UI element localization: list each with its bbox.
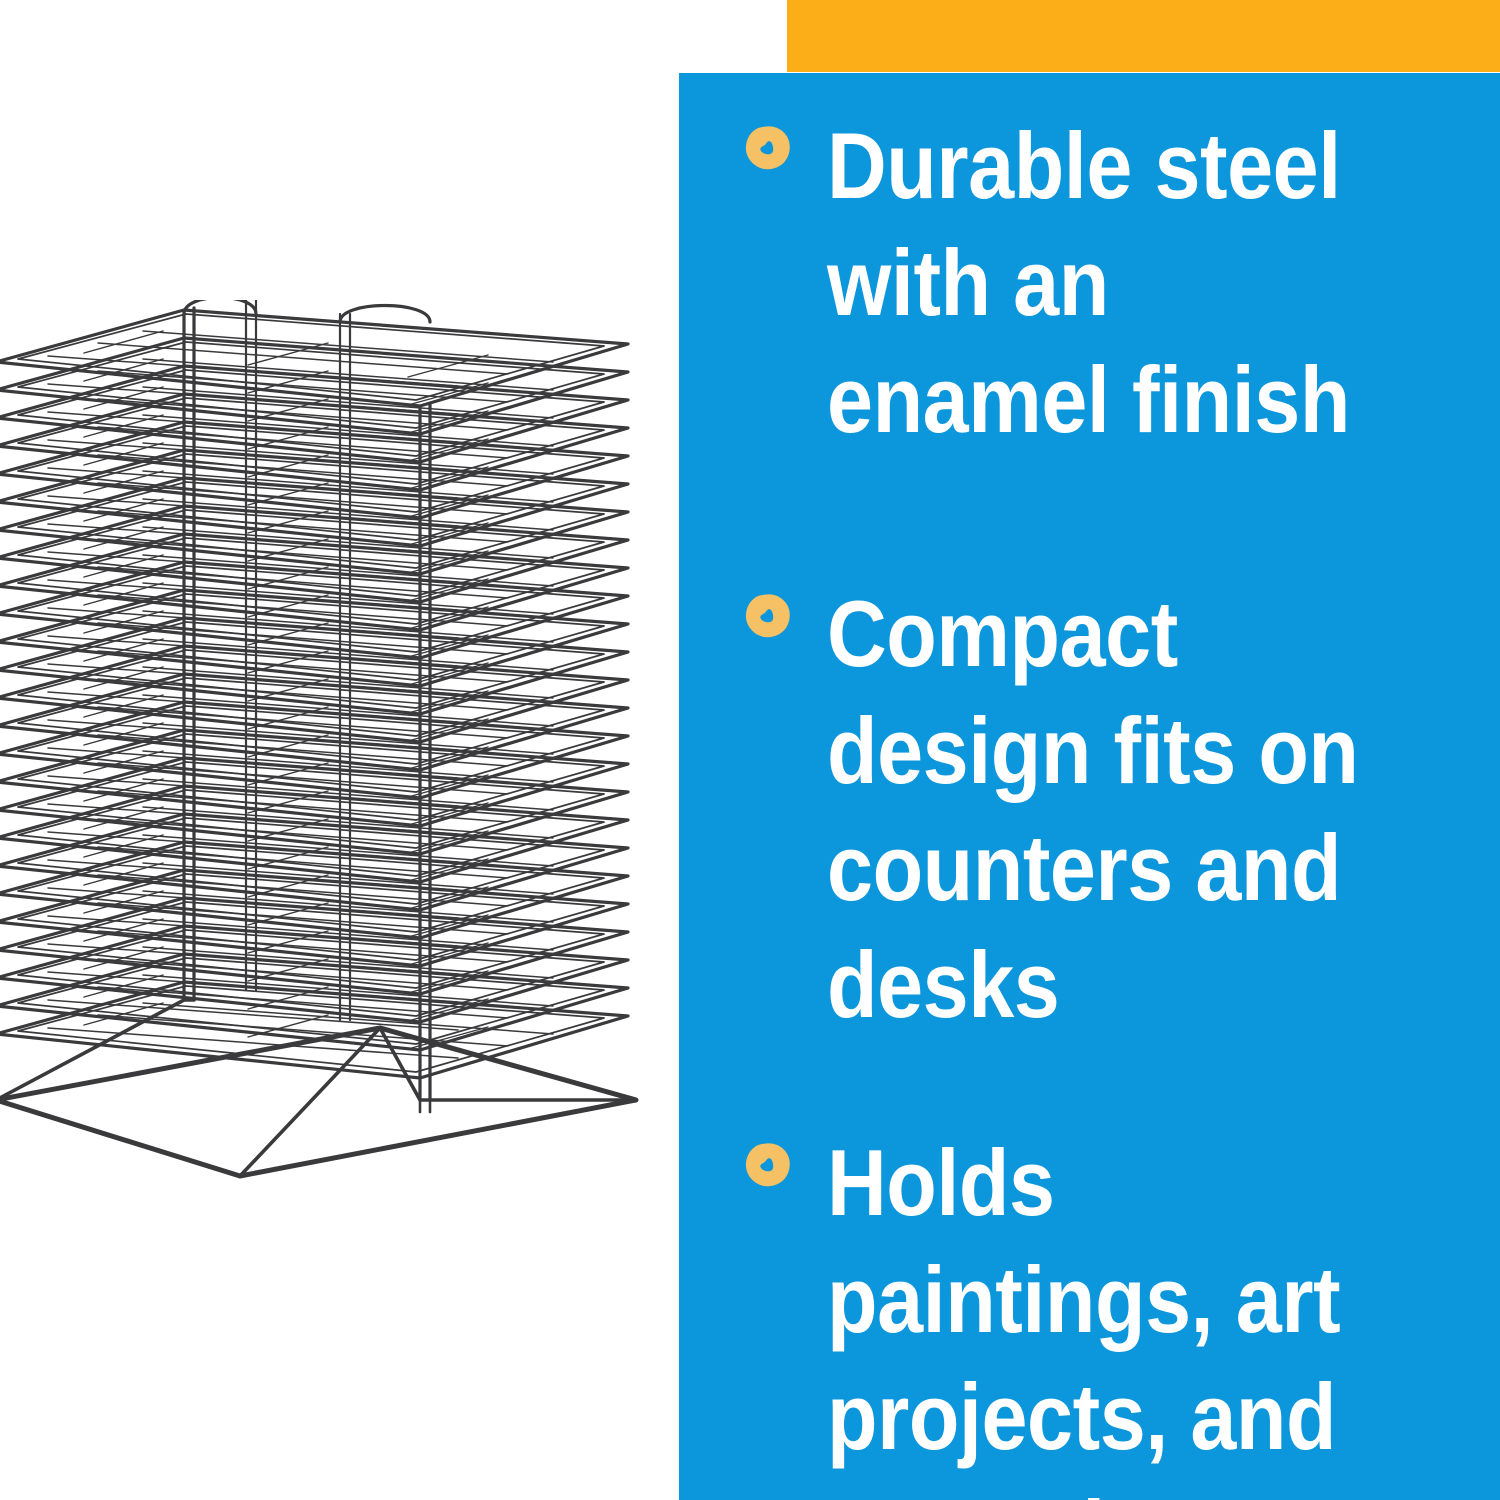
blob-bullet-icon bbox=[745, 125, 791, 171]
feature-bullet-text: Durable steel with an enamel finish bbox=[827, 107, 1408, 458]
feature-bullet-text: Compact design fits on counters and desk… bbox=[827, 575, 1408, 1043]
feature-panel: Durable steel with an enamel finish Comp… bbox=[679, 73, 1500, 1500]
orange-accent-bar bbox=[787, 0, 1500, 72]
product-image-pane bbox=[0, 0, 679, 1500]
blob-bullet-icon bbox=[745, 593, 791, 639]
wire-drying-rack-image bbox=[0, 300, 679, 1240]
feature-bullet-text: Holds paintings, art projects, and magaz… bbox=[827, 1124, 1408, 1500]
infographic-canvas: Durable steel with an enamel finish Comp… bbox=[0, 0, 1500, 1500]
blob-bullet-icon bbox=[745, 1142, 791, 1188]
